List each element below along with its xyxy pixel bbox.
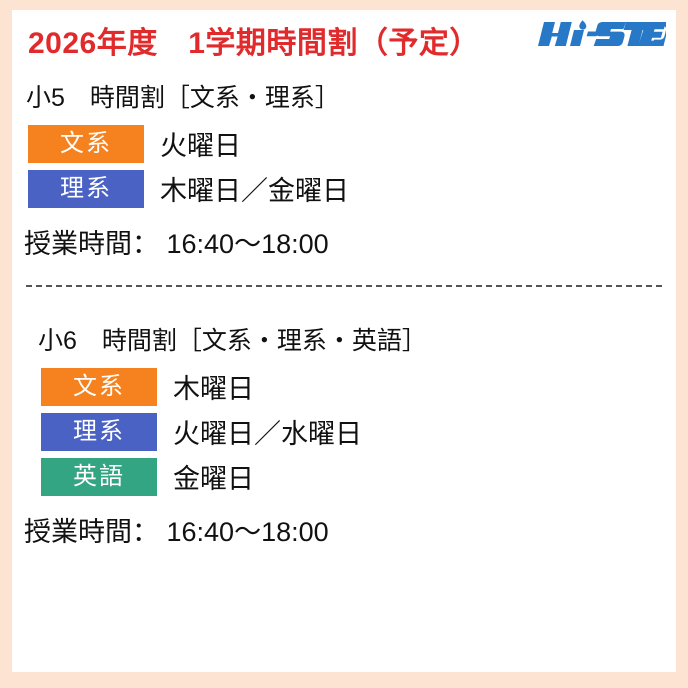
page-title: 2026年度 1学期時間割（予定）: [28, 18, 480, 62]
course-badge-bunkei: 文系: [28, 125, 144, 163]
schedule-row: 理系 火曜日／水曜日: [41, 412, 676, 451]
section-grade6-heading: 小6 時間割［文系・理系・英語］: [38, 321, 676, 357]
section-grade6: 小6 時間割［文系・理系・英語］ 文系 木曜日 理系 火曜日／水曜日 英語 金曜…: [12, 321, 676, 549]
header: 2026年度 1学期時間割（予定）: [12, 10, 676, 68]
course-badge-rikei: 理系: [41, 413, 157, 451]
schedule-row: 文系 木曜日: [41, 367, 676, 406]
schedule-day-value: 火曜日／水曜日: [173, 412, 362, 451]
course-badge-bunkei: 文系: [41, 368, 157, 406]
section-divider: [26, 285, 662, 287]
class-time-grade5: 授業時間： 16:40～18:00: [24, 222, 676, 261]
course-badge-eigo: 英語: [41, 458, 157, 496]
schedule-day-value: 木曜日／金曜日: [160, 169, 349, 208]
schedule-day-value: 木曜日: [173, 367, 254, 406]
hi-step-logo: [538, 16, 666, 52]
schedule-day-value: 金曜日: [173, 457, 254, 496]
schedule-row: 理系 木曜日／金曜日: [28, 169, 676, 208]
schedule-row: 英語 金曜日: [41, 457, 676, 496]
class-time-grade6: 授業時間： 16:40～18:00: [24, 510, 676, 549]
schedule-row: 文系 火曜日: [28, 124, 676, 163]
section-grade5-rows: 文系 火曜日 理系 木曜日／金曜日: [12, 124, 676, 208]
schedule-day-value: 火曜日: [160, 124, 241, 163]
content-card: 2026年度 1学期時間割（予定）: [12, 10, 676, 672]
page-root: 2026年度 1学期時間割（予定）: [0, 0, 688, 688]
section-grade6-rows: 文系 木曜日 理系 火曜日／水曜日 英語 金曜日: [12, 367, 676, 496]
section-grade5-heading: 小5 時間割［文系・理系］: [26, 78, 676, 114]
section-grade5: 小5 時間割［文系・理系］ 文系 火曜日 理系 木曜日／金曜日 授業時間： 16…: [12, 78, 676, 261]
course-badge-rikei: 理系: [28, 170, 144, 208]
